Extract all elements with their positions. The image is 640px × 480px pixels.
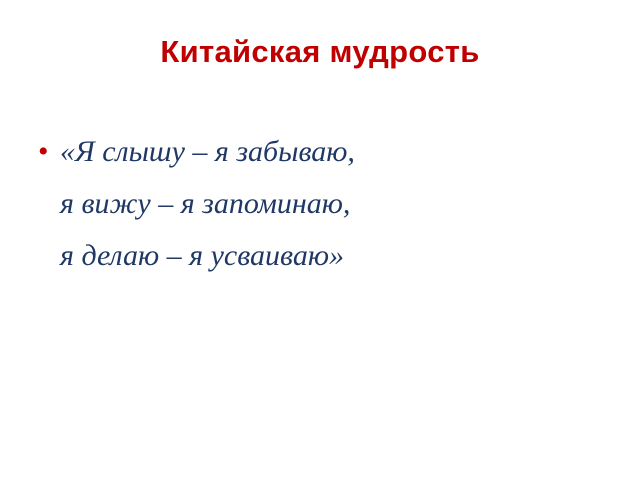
page-title: Китайская мудрость bbox=[0, 34, 640, 70]
quote-text: «Я слышу – я забываю, я вижу – я запомин… bbox=[60, 126, 608, 282]
quote-bullet-item: • «Я слышу – я забываю, я вижу – я запом… bbox=[38, 126, 608, 282]
bullet-point-icon: • bbox=[38, 126, 60, 178]
slide-canvas: Китайская мудрость • «Я слышу – я забыва… bbox=[0, 0, 640, 480]
